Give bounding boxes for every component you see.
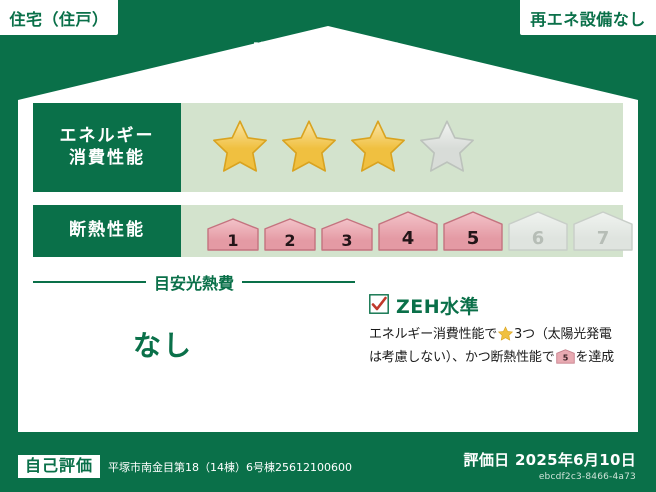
heading-rule-left: [33, 281, 146, 283]
star-icon-empty: [418, 118, 476, 178]
energy-performance-rating: [181, 103, 623, 192]
energy-performance-label-line1: エネルギー: [60, 126, 155, 147]
insulation-grade-number: 4: [378, 228, 438, 249]
energy-performance-label: 住宅（住戸） 再エネ設備なし 建築物省エネ法に基づく 省エネ性能ラベル エネルギ…: [0, 0, 656, 492]
zeh-description: エネルギー消費性能で3つ（太陽光発電は考慮しない）、かつ断熱性能で5を達成: [369, 325, 623, 371]
utility-cost-heading-label: 目安光熱費: [154, 270, 234, 294]
insulation-grade-5: 5: [443, 211, 503, 251]
property-address: 平塚市南金目第18（14棟）6号棟25612100600: [108, 459, 352, 475]
badge-renewable-energy: 再エネ設備なし: [520, 0, 656, 35]
insulation-grade-number: 3: [321, 231, 373, 250]
house-grade-icon: 5: [556, 349, 575, 371]
insulation-grade-scale: 1234567: [207, 211, 633, 251]
label-content: エネルギー 消費性能 断熱性能 1234567 目安光熱費: [33, 103, 623, 428]
insulation-grade-number: 5: [443, 228, 503, 249]
energy-performance-label-line2: 消費性能: [69, 148, 145, 169]
self-evaluation-badge: 自己評価: [18, 455, 100, 478]
energy-performance-row: エネルギー 消費性能: [33, 103, 623, 192]
badge-building-type: 住宅（住戸）: [0, 0, 118, 35]
insulation-grade-1: 1: [207, 218, 259, 251]
zeh-section: ZEH水準 エネルギー消費性能で3つ（太陽光発電は考慮しない）、かつ断熱性能で5…: [363, 270, 623, 420]
utility-cost-heading: 目安光熱費: [33, 270, 363, 294]
zeh-title: ZEH水準: [396, 292, 479, 319]
insulation-grade-6: 6: [508, 211, 568, 251]
insulation-performance-label-box: 断熱性能: [33, 205, 181, 257]
insulation-grade-4: 4: [378, 211, 438, 251]
energy-performance-label-box: エネルギー 消費性能: [33, 103, 181, 192]
label-title-block: 建築物省エネ法に基づく 省エネ性能ラベル: [0, 38, 656, 88]
star-icon: [498, 326, 513, 348]
star-icon-filled: [211, 118, 269, 178]
label-footer: 自己評価 平塚市南金目第18（14棟）6号棟25612100600 評価日 20…: [0, 434, 656, 492]
insulation-grade-7: 7: [573, 211, 633, 251]
insulation-performance-rating: 1234567: [181, 205, 633, 257]
badge-building-type-label: 住宅（住戸）: [9, 6, 108, 30]
label-title: 省エネ性能ラベル: [0, 59, 656, 88]
insulation-performance-row: 断熱性能 1234567: [33, 205, 623, 257]
evaluation-date: 評価日 2025年6月10日: [464, 449, 636, 470]
insulation-grade-number: 1: [207, 231, 259, 250]
star-rating: [211, 118, 476, 178]
heading-rule-right: [242, 281, 355, 283]
label-subtitle: 建築物省エネ法に基づく: [0, 38, 656, 57]
badge-renewable-energy-label: 再エネ設備なし: [530, 6, 646, 30]
footer-left: 自己評価 平塚市南金目第18（14棟）6号棟25612100600: [18, 455, 352, 478]
star-icon-filled: [280, 118, 338, 178]
svg-text:5: 5: [562, 353, 568, 362]
insulation-grade-number: 7: [573, 228, 633, 249]
evaluation-id: ebcdf2c3-8466-4a73: [464, 472, 636, 482]
footer-right: 評価日 2025年6月10日 ebcdf2c3-8466-4a73: [464, 449, 636, 482]
zeh-desc-part1: エネルギー消費性能で: [369, 327, 497, 342]
star-icon-filled: [349, 118, 407, 178]
zeh-desc-part4: を達成: [576, 350, 614, 365]
utility-cost-section: 目安光熱費 なし: [33, 270, 363, 420]
zeh-desc-part2: 3つ（太陽光発電: [514, 327, 612, 342]
insulation-grade-number: 6: [508, 228, 568, 249]
insulation-grade-2: 2: [264, 218, 316, 251]
checkbox-checked-icon: [369, 294, 389, 318]
lower-section: 目安光熱費 なし ZEH水準 エネルギー消費性能で3つ（太陽光発: [33, 270, 623, 420]
insulation-performance-label: 断熱性能: [69, 220, 145, 241]
insulation-grade-number: 2: [264, 231, 316, 250]
zeh-title-row: ZEH水準: [369, 292, 623, 319]
utility-cost-value: なし: [33, 324, 363, 364]
insulation-grade-3: 3: [321, 218, 373, 251]
zeh-desc-part3: は考慮しない）、かつ断熱性能で: [369, 350, 555, 365]
